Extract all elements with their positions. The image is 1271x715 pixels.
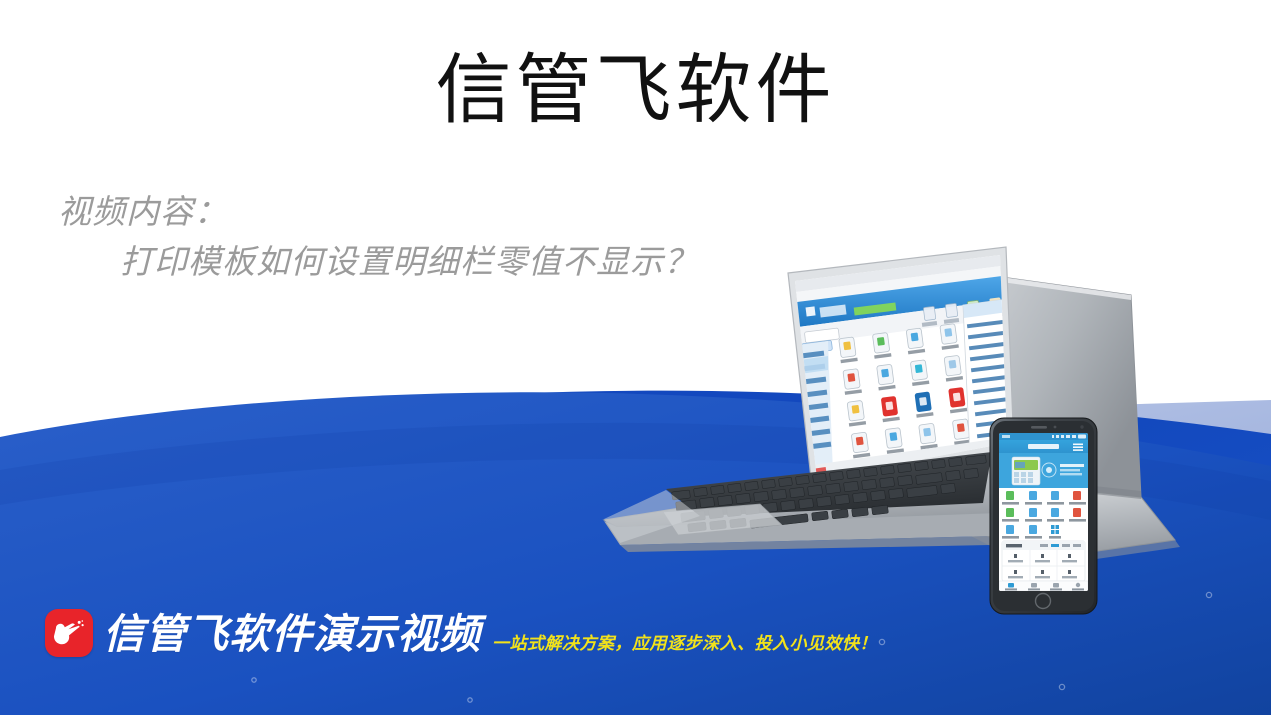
- slide-canvas: 信管飞软件 视频内容： 打印模板如何设置明细栏零值不显示？ 信管飞软件演示视频 …: [0, 0, 1271, 715]
- bird-logo-icon: [45, 609, 93, 657]
- smartphone-app: [990, 418, 1097, 614]
- subtitle-topic: 打印模板如何设置明细栏零值不显示？: [120, 240, 698, 284]
- brand-name: 信管飞软件演示视频: [103, 612, 481, 656]
- page-title: 信管飞软件: [0, 52, 1271, 128]
- phone-screen: [999, 433, 1088, 591]
- subtitle-label: 视频内容：: [58, 190, 698, 234]
- brand-tagline: 一站式解决方案，应用逐步深入、投入小见效快！: [492, 634, 877, 654]
- subtitle-block: 视频内容： 打印模板如何设置明细栏零值不显示？: [58, 190, 698, 284]
